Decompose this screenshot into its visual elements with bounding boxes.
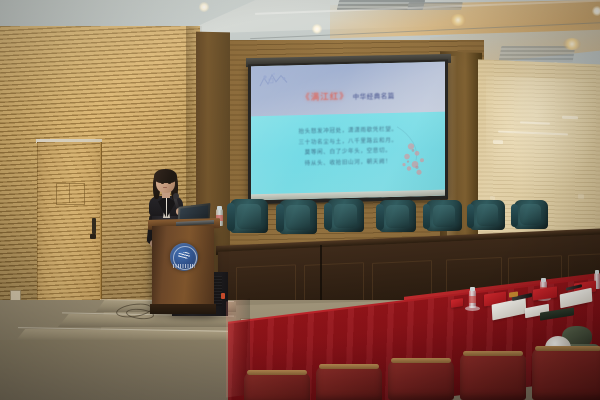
bottle-cap — [541, 278, 546, 282]
audience-seat-trim — [463, 351, 523, 356]
power-led-icon — [221, 293, 225, 299]
bottle-cap — [217, 206, 222, 210]
door-panel-detail — [56, 183, 85, 205]
door-slat-texture — [37, 142, 100, 310]
downlight-icon — [312, 24, 322, 34]
air-vent-icon — [499, 46, 576, 62]
door-lock-icon[interactable] — [90, 234, 96, 239]
door-panel-divider — [69, 183, 70, 203]
door-handle-icon[interactable] — [92, 218, 96, 234]
downlight-icon — [199, 2, 209, 12]
downlight-icon — [592, 6, 600, 16]
audience-seat — [460, 353, 526, 400]
audience-seat-trim — [391, 358, 451, 363]
downlight-icon — [563, 38, 581, 50]
wall-scuff — [562, 116, 578, 120]
front-floor — [0, 340, 250, 400]
auditorium-presentation-photo: 《满江红》中华经典名篇 抬头怒发冲冠处，潇潇雨歇凭栏望。 三十功名尘与土，八千里… — [0, 0, 600, 400]
audience-seat-trim — [247, 370, 307, 375]
audience-seat — [244, 372, 310, 400]
screen-glare — [251, 62, 445, 201]
wall-scuff — [493, 140, 503, 144]
bottle-cap — [595, 270, 599, 274]
wall-scuff — [578, 194, 584, 199]
audience-seat-trim — [535, 346, 600, 351]
podium-emblem-text — [173, 264, 195, 268]
bottle-label — [469, 296, 476, 303]
podium-base — [150, 304, 216, 314]
downlight-icon — [450, 14, 466, 26]
bottle-cap — [470, 287, 475, 291]
microphone-head-icon — [173, 193, 179, 199]
podium-emblem-mark — [178, 252, 190, 259]
audience-seat — [532, 348, 600, 400]
right-wall-light-glow — [486, 76, 598, 201]
bottle-coaster — [465, 306, 480, 311]
red-folder — [451, 298, 463, 308]
audience-seat — [316, 366, 382, 400]
audience-seat — [388, 360, 454, 400]
speaker-hair-top — [154, 169, 177, 183]
audience-seat-trim — [319, 364, 379, 369]
